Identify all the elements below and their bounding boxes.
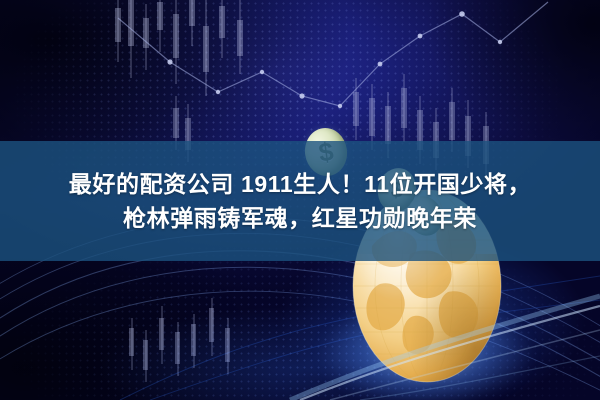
- headline-text-block: 最好的配资公司 1911生人！11位开国少将， 枪林弹雨铸军魂，红星功勋晚年荣: [0, 141, 600, 261]
- headline-line-1: 最好的配资公司 1911生人！11位开国少将，: [69, 171, 531, 197]
- banner-image: $ $ 最好的配资公司 1911生人！11位开国少将， 枪林弹雨铸军魂，红星功勋…: [0, 0, 600, 400]
- headline-line-2: 枪林弹雨铸军魂，红星功勋晚年荣: [123, 205, 477, 231]
